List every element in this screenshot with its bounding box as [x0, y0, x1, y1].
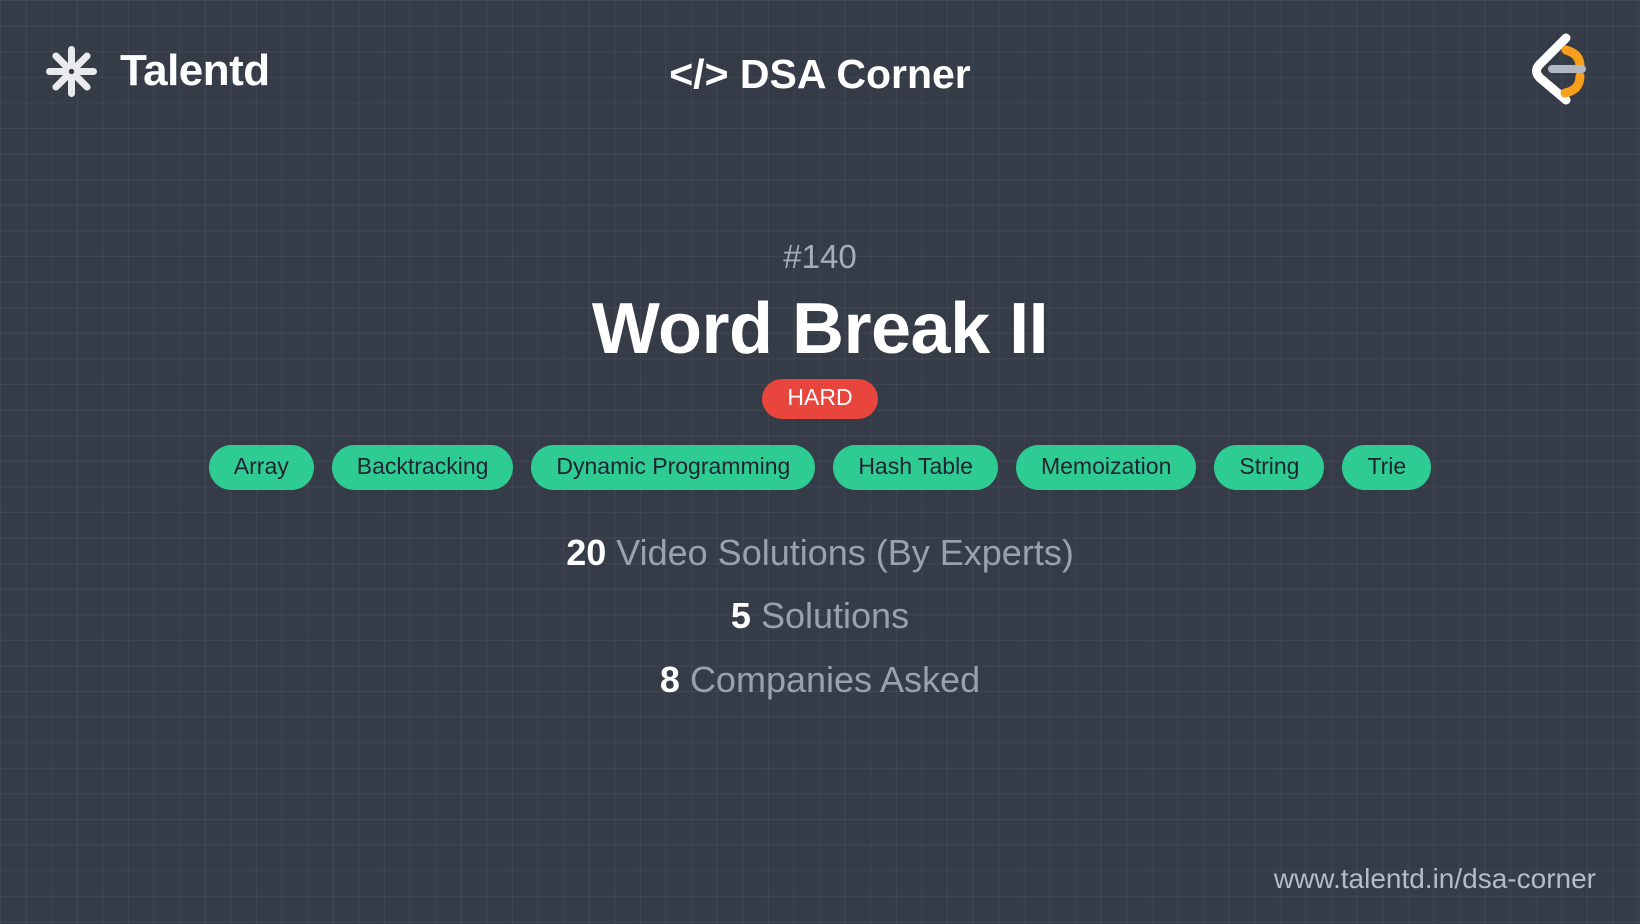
topic-tag[interactable]: Hash Table — [833, 445, 998, 490]
stat-label: Companies Asked — [690, 659, 980, 700]
stat-value: 8 — [660, 659, 680, 700]
topic-tag[interactable]: String — [1214, 445, 1324, 490]
leetcode-logo-icon — [1520, 28, 1596, 106]
problem-title: Word Break II — [592, 291, 1048, 367]
stats-list: 20 Video Solutions (By Experts) 5 Soluti… — [566, 532, 1074, 700]
topic-tag[interactable]: Memoization — [1016, 445, 1196, 490]
stat-value: 5 — [731, 595, 751, 636]
stat-row: 20 Video Solutions (By Experts) — [566, 532, 1074, 573]
stat-value: 20 — [566, 532, 606, 573]
footer-url[interactable]: www.talentd.in/dsa-corner — [1274, 862, 1596, 896]
stat-row: 8 Companies Asked — [660, 659, 980, 700]
stat-label: Solutions — [761, 595, 909, 636]
topic-tag[interactable]: Dynamic Programming — [531, 445, 815, 490]
page-title: </> DSA Corner — [0, 52, 1640, 97]
main-content: #140 Word Break II HARD Array Backtracki… — [0, 160, 1640, 834]
problem-number: #140 — [783, 240, 856, 273]
topic-tag[interactable]: Backtracking — [332, 445, 514, 490]
page-header: Talentd </> DSA Corner — [0, 0, 1640, 155]
stat-row: 5 Solutions — [731, 595, 909, 636]
topic-tag[interactable]: Array — [209, 445, 314, 490]
topic-tag[interactable]: Trie — [1342, 445, 1431, 490]
topic-tags-row: Array Backtracking Dynamic Programming H… — [209, 445, 1431, 490]
stat-label: Video Solutions (By Experts) — [616, 532, 1074, 573]
status-badge: HARD — [762, 379, 877, 418]
